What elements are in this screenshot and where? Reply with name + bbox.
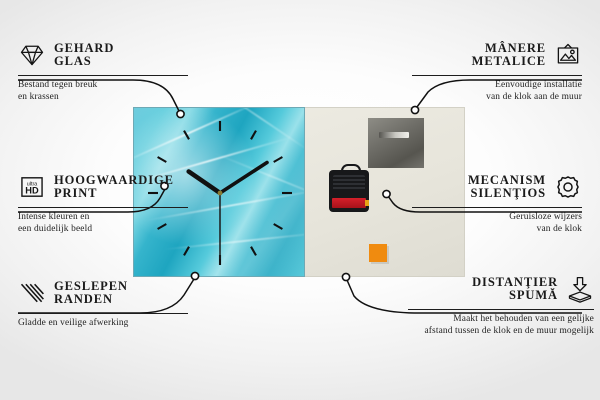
foam-spacer-pad [369, 244, 387, 262]
feature-subtitle-line1: Maakt het behouden van een gelijke [394, 314, 594, 326]
feature-divider [412, 207, 582, 208]
ultra-hd-icon: ultra HD [18, 173, 46, 201]
feature-geslepen-randen[interactable]: GESLEPEN RANDEN Gladde en veilige afwerk… [18, 276, 204, 330]
ultra-hd-icon-big-text: HD [25, 186, 39, 196]
hanger-slot [379, 132, 409, 138]
feature-divider [18, 75, 188, 76]
clock-tick [184, 247, 189, 256]
clock-tick [251, 247, 256, 256]
mechanism-grill [333, 175, 365, 191]
feature-divider [18, 207, 188, 208]
feature-heading: GESLEPEN RANDEN [18, 276, 204, 310]
feature-title: GESLEPEN RANDEN [54, 280, 128, 307]
clock-tick [274, 157, 283, 162]
gear-icon [554, 173, 582, 201]
spacer-press-icon [566, 275, 594, 303]
feature-title: MÂNERE METALICE [472, 42, 546, 69]
feature-hoogwaardige-print[interactable]: ultra HD HOOGWAARDIGE PRINT Intense kleu… [18, 170, 204, 235]
feature-divider [18, 313, 188, 314]
feature-heading: MÂNERE METALICE [396, 38, 582, 72]
feature-heading: MECANISM SILENŢIOS [396, 170, 582, 204]
feature-manere-metalice[interactable]: MÂNERE METALICE Eenvoudige installatie v… [396, 38, 582, 103]
clock-tick [274, 224, 283, 229]
feature-title: MECANISM SILENŢIOS [468, 174, 546, 201]
feature-gehard-glas[interactable]: GEHARD GLAS Bestand tegen breuk en krass… [18, 38, 204, 103]
metal-hanger-plate [368, 118, 424, 168]
feature-distantier-spuma[interactable]: DISTANŢIER SPUMĂ Maakt het behouden van … [394, 272, 594, 337]
mechanism-hanging-loop [341, 164, 361, 174]
feature-subtitle-line2: en krassen [18, 92, 204, 104]
clock-tick [158, 157, 167, 162]
battery [332, 198, 366, 208]
feature-subtitle-line1: Gladde en veilige afwerking [18, 318, 204, 330]
feature-heading: DISTANŢIER SPUMĂ [394, 272, 594, 306]
diamond-icon [18, 41, 46, 69]
feature-subtitle-line2: een duidelijk beeld [18, 224, 204, 236]
feature-title: HOOGWAARDIGE PRINT [54, 174, 174, 201]
feature-title: DISTANŢIER SPUMĂ [472, 276, 558, 303]
feature-subtitle-line1: Eenvoudige installatie [396, 80, 582, 92]
picture-hanger-icon [554, 41, 582, 69]
clock-tick [184, 131, 189, 140]
feature-subtitle-line2: van de klok [396, 224, 582, 236]
feature-heading: GEHARD GLAS [18, 38, 204, 72]
clock-mechanism-box [329, 170, 369, 212]
feature-subtitle-line1: Geruisloze wijzers [396, 212, 582, 224]
beveled-edge-icon [18, 279, 46, 307]
feature-title: GEHARD GLAS [54, 42, 114, 69]
clock-tick [251, 131, 256, 140]
feature-subtitle-line2: afstand tussen de klok en de muur mogeli… [394, 326, 594, 338]
feature-subtitle-line1: Intense kleuren en [18, 212, 204, 224]
infographic-canvas: GEHARD GLAS Bestand tegen breuk en krass… [0, 0, 600, 400]
feature-divider [408, 309, 594, 310]
feature-divider [412, 75, 582, 76]
feature-heading: ultra HD HOOGWAARDIGE PRINT [18, 170, 204, 204]
feature-mecanism-silentios[interactable]: MECANISM SILENŢIOS Geruisloze wijzers va… [396, 170, 582, 235]
feature-subtitle-line2: van de klok aan de muur [396, 92, 582, 104]
feature-subtitle-line1: Bestand tegen breuk [18, 80, 204, 92]
